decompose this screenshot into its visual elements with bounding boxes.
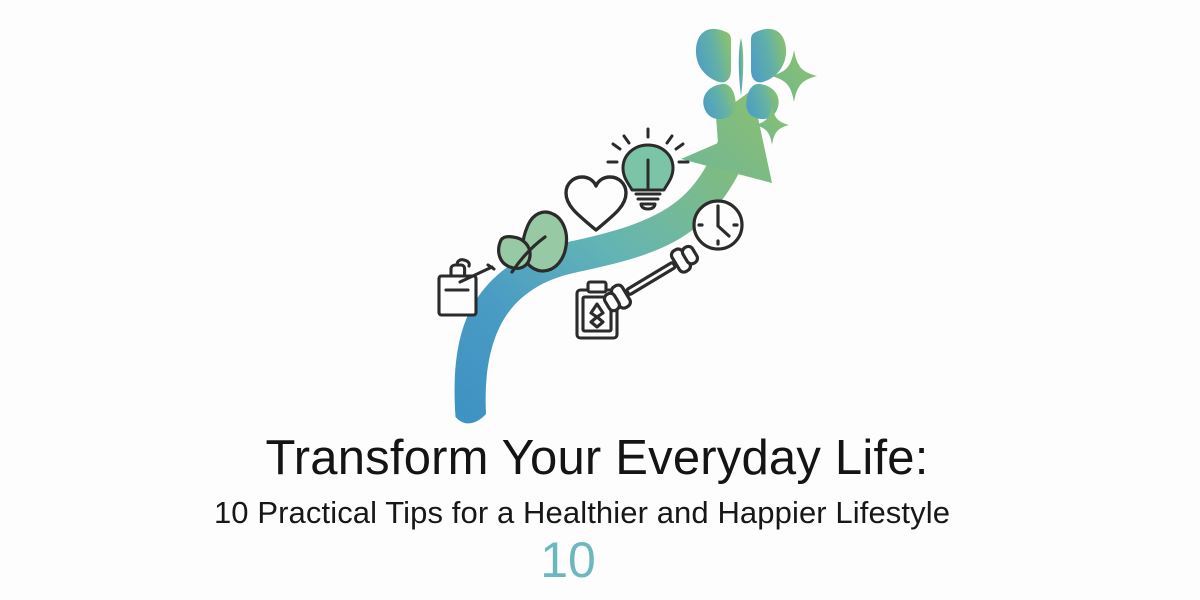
clock-icon (694, 201, 742, 249)
tip-count-number: 10 (0, 533, 1168, 587)
leaf-sprout-icon (499, 212, 567, 272)
page-subtitle: 10 Practical Tips for a Healthier and Ha… (0, 495, 1182, 531)
lightbulb-icon (608, 129, 688, 209)
growth-arrow-illustration (400, 10, 820, 430)
slide-canvas: Transform Your Everyday Life: 10 Practic… (0, 0, 1200, 600)
title-block: Transform Your Everyday Life: 10 Practic… (0, 430, 1200, 587)
page-title: Transform Your Everyday Life: (0, 430, 1197, 486)
heart-icon (566, 177, 626, 230)
